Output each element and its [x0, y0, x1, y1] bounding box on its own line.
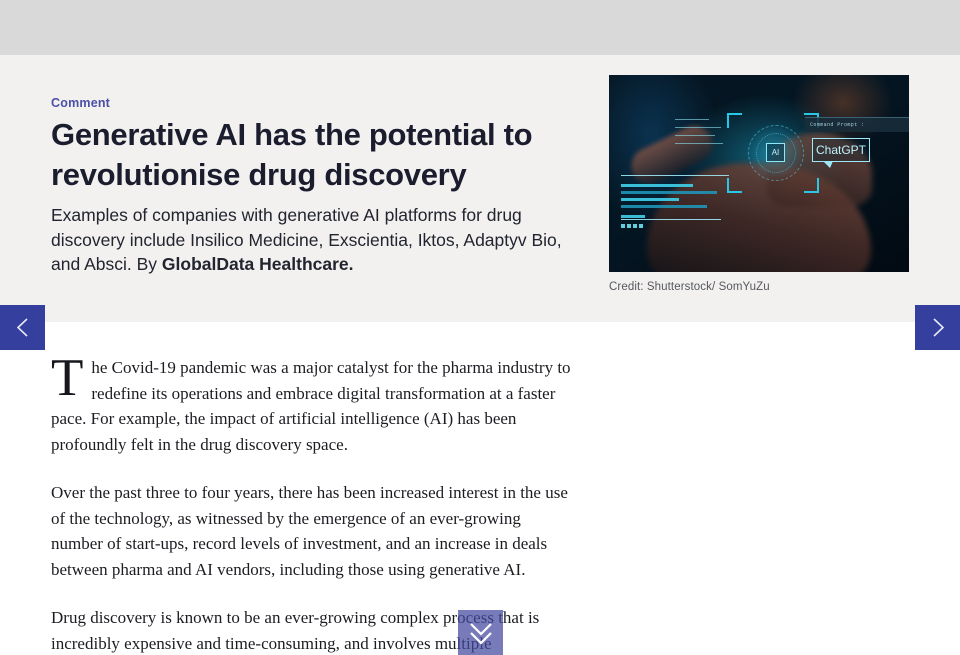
article-paragraph: Over the past three to four years, there…	[51, 480, 573, 582]
chevron-right-icon	[927, 316, 949, 339]
article-paragraph: The Covid-19 pandemic was a major cataly…	[51, 355, 573, 457]
hero-section: Comment Generative AI has the potential …	[0, 55, 960, 322]
chevron-left-icon	[12, 316, 34, 339]
hero-inner: Comment Generative AI has the potential …	[51, 55, 909, 322]
page-title: Generative AI has the potential to revol…	[51, 115, 591, 195]
ai-chip-label: AI	[766, 143, 785, 162]
hud-bars-graphic	[621, 175, 733, 223]
chatgpt-bubble: ChatGPT	[812, 138, 870, 162]
scroll-down-button[interactable]	[458, 610, 503, 655]
hud-lines-graphic	[675, 117, 733, 163]
double-chevron-down-icon	[466, 619, 496, 647]
neural-network-graphic: AI	[747, 123, 803, 181]
hero-image: AI Command Prompt : ChatGPT	[609, 75, 909, 272]
article-page: Comment Generative AI has the potential …	[0, 0, 960, 655]
article-standfirst: Examples of companies with generative AI…	[51, 203, 579, 277]
hud-dots	[621, 215, 645, 218]
hero-figure: AI Command Prompt : ChatGPT Credit: Shut…	[609, 75, 909, 293]
previous-article-button[interactable]	[0, 305, 45, 350]
standfirst-byline[interactable]: GlobalData Healthcare.	[162, 254, 354, 274]
command-prompt-overlay: Command Prompt :	[805, 117, 909, 132]
top-bar	[0, 0, 960, 55]
image-credit: Credit: Shutterstock/ SomYuZu	[609, 281, 909, 293]
article-kicker[interactable]: Comment	[51, 96, 110, 110]
next-article-button[interactable]	[915, 305, 960, 350]
